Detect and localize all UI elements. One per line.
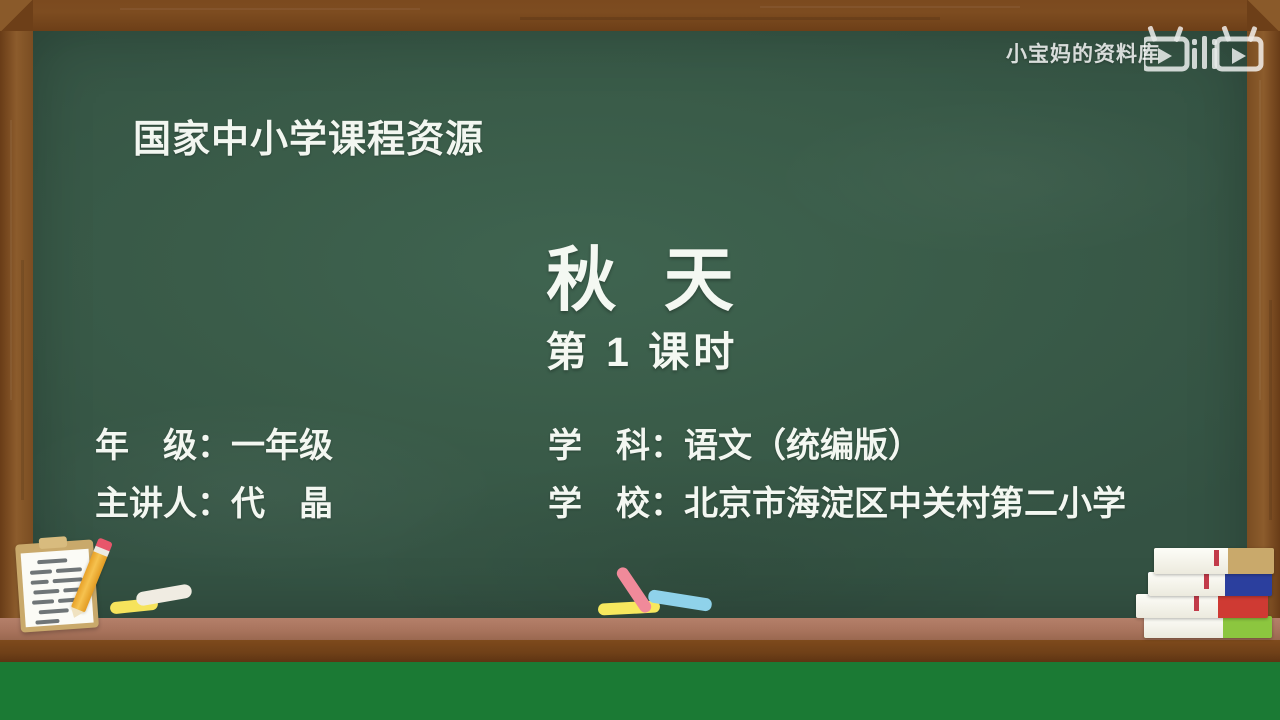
book-bookmark (1204, 574, 1209, 589)
book-bookmark (1214, 550, 1219, 566)
subject-value: 语文（统编版） (684, 430, 922, 464)
lesson-metadata: 年 级：一年级 主讲人：代 晶 学 科：语文（统编版） 学 校：北京市海淀区中关… (0, 430, 1280, 550)
book-stack-decoration (1130, 528, 1276, 640)
clipboard-decoration (4, 528, 154, 638)
book-pages (1136, 594, 1218, 618)
book-red (1136, 594, 1268, 618)
bottom-green-band (0, 662, 1280, 720)
lesson-subtitle: 第 1 课时 (0, 318, 1280, 378)
book-blue (1148, 572, 1272, 596)
uploader-watermark: 小宝妈的资料库 (1006, 38, 1160, 68)
page-title: 国家中小学课程资源 (133, 108, 484, 163)
metadata-column-right: 学 科：语文（统编版） 学 校：北京市海淀区中关村第二小学 (548, 430, 1126, 546)
metadata-row-teacher: 主讲人：代 晶 (95, 488, 333, 522)
frame-top-rail (0, 0, 1280, 31)
metadata-row-grade: 年 级：一年级 (95, 430, 333, 464)
book-pages (1148, 572, 1225, 596)
lesson-title-slide: 国家中小学课程资源 秋 天 第 1 课时 年 级：一年级 主讲人：代 晶 学 科… (0, 0, 1280, 720)
metadata-row-subject: 学 科：语文（统编版） (548, 430, 1126, 464)
bilibili-logo-icon (1144, 26, 1264, 72)
clipboard-clamp-icon (39, 536, 68, 549)
frame-corner-top-left (0, 0, 33, 31)
subject-label: 学 科： (548, 430, 684, 464)
grade-label: 年 级： (95, 430, 231, 464)
chalk-ledge-top (0, 618, 1280, 640)
grade-value: 一年级 (231, 430, 333, 464)
school-value: 北京市海淀区中关村第二小学 (684, 488, 1126, 522)
book-tan (1154, 548, 1274, 574)
chalk-ledge-front (0, 640, 1280, 662)
chalk-sticks-center (590, 586, 720, 620)
lesson-title: 秋 天 (0, 224, 1280, 325)
teacher-value: 代 晶 (231, 488, 333, 522)
teacher-label: 主讲人： (95, 488, 231, 522)
metadata-row-school: 学 校：北京市海淀区中关村第二小学 (548, 488, 1126, 522)
book-green (1144, 616, 1272, 638)
school-label: 学 校： (548, 488, 684, 522)
book-pages (1144, 616, 1223, 638)
book-bookmark (1194, 596, 1199, 611)
chalkboard-frame: 国家中小学课程资源 秋 天 第 1 课时 年 级：一年级 主讲人：代 晶 学 科… (0, 0, 1280, 662)
